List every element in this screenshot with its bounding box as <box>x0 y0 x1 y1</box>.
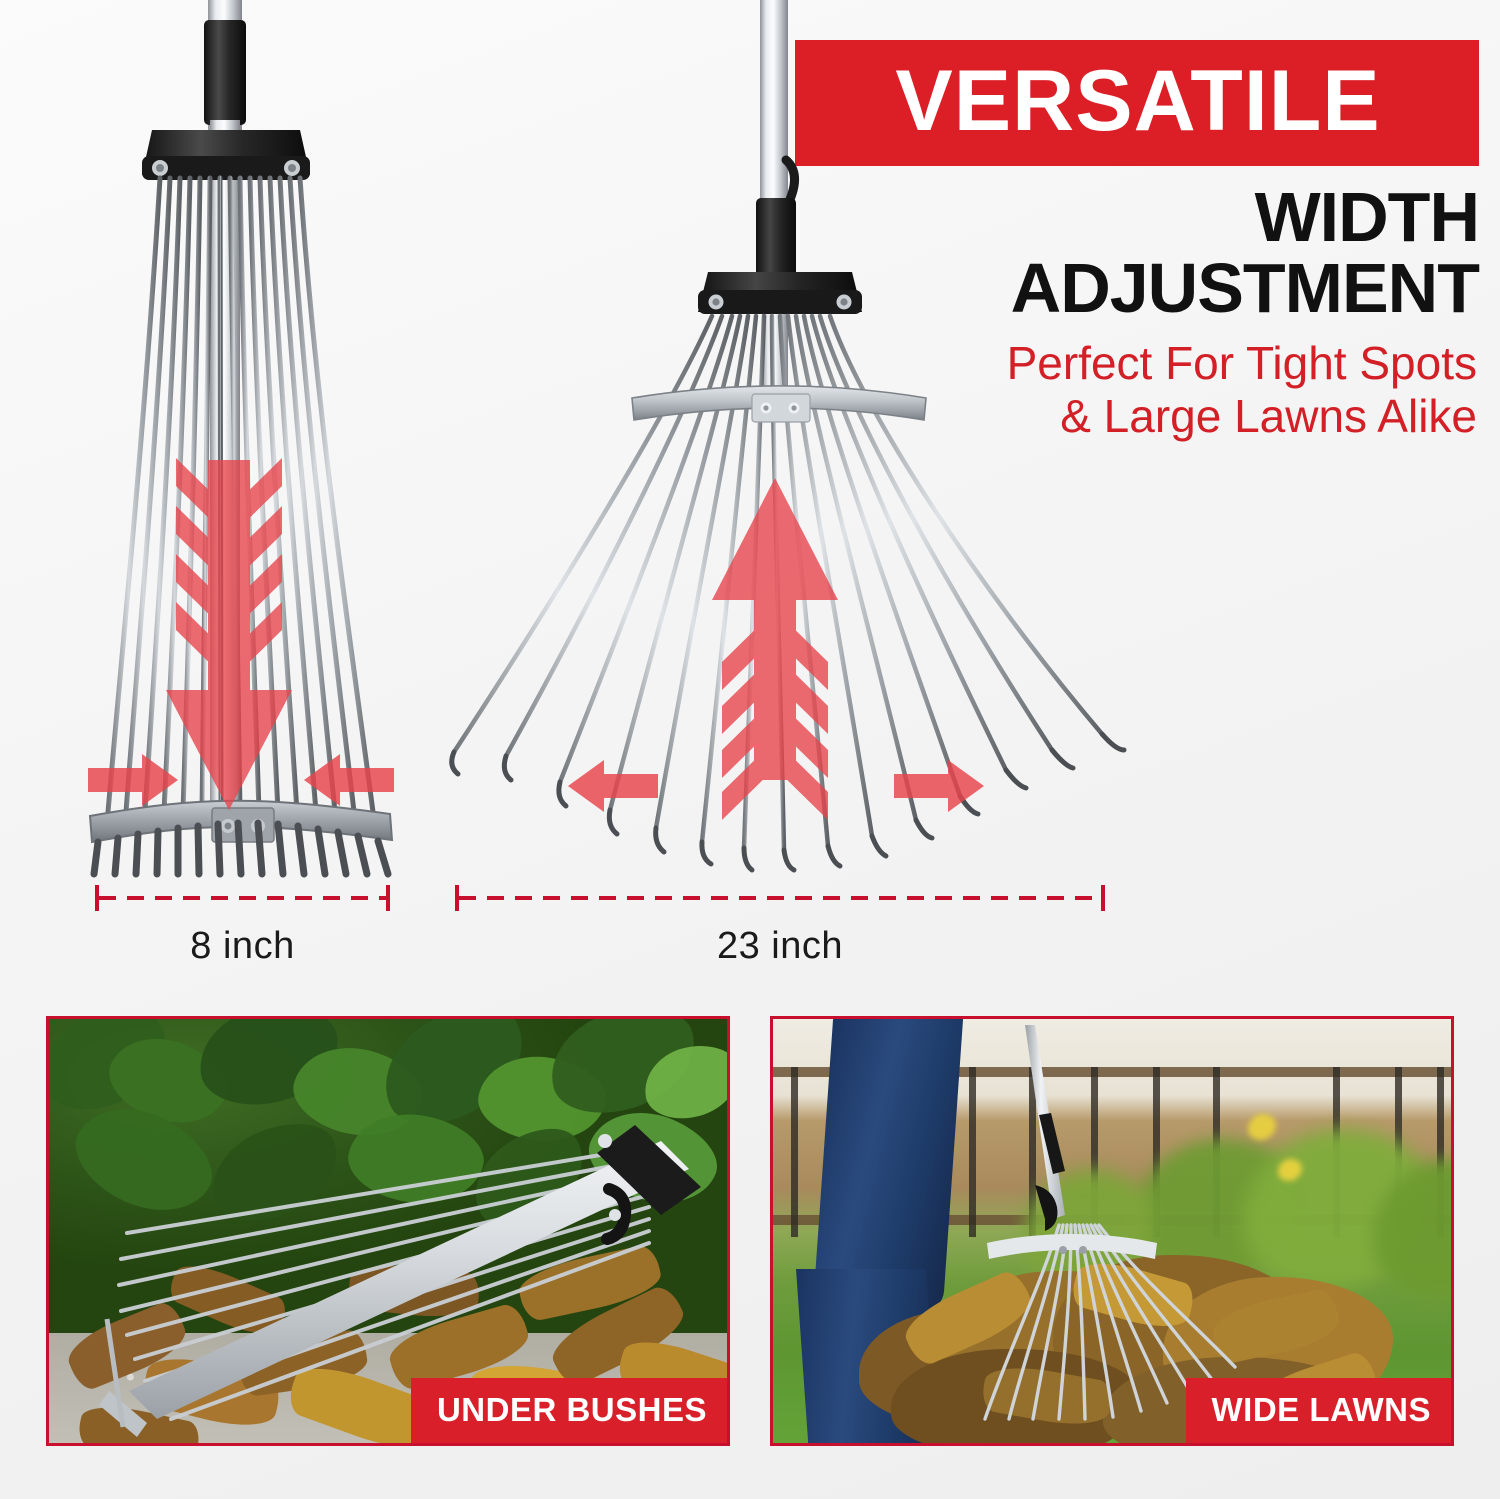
dimension-cap-right <box>386 885 390 911</box>
arrow-right-icon <box>894 760 984 812</box>
dimension-line-wide <box>455 885 1105 911</box>
dimension-line-narrow <box>95 885 390 911</box>
dimension-label-narrow: 8 inch <box>95 925 390 968</box>
diagram-zone: VERSATILE WIDTH ADJUSTMENT Perfect For T… <box>0 0 1500 1000</box>
rake-narrow-icon <box>60 0 480 890</box>
rake-narrow-figure <box>60 0 480 890</box>
photo-card-wide-lawns: WIDE LAWNS <box>770 1016 1454 1446</box>
rake-wide-figure <box>440 0 1130 890</box>
infographic-page: VERSATILE WIDTH ADJUSTMENT Perfect For T… <box>0 0 1500 1499</box>
photo-caption-wide-lawns: WIDE LAWNS <box>1186 1378 1451 1443</box>
rake-wide-icon <box>440 0 1130 890</box>
dimension-label-wide: 23 inch <box>455 925 1105 968</box>
dimension-dash <box>99 896 386 900</box>
photo-caption-under-bushes: UNDER BUSHES <box>411 1378 727 1443</box>
dimension-wide: 23 inch <box>455 885 1105 968</box>
photo-card-under-bushes: UNDER BUSHES <box>46 1016 730 1446</box>
dimension-dash <box>459 896 1101 900</box>
dimension-narrow: 8 inch <box>95 885 390 968</box>
dimension-cap-right <box>1101 885 1105 911</box>
